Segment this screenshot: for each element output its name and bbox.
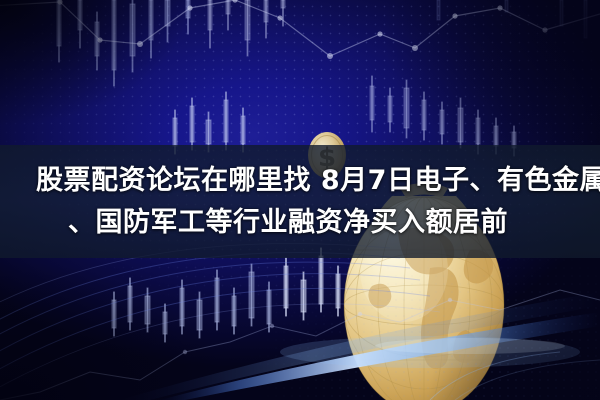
news-banner-image: $ $ xyxy=(0,0,600,400)
headline: 股票配资论坛在哪里找 8月7日电子、有色金属 、国防军工等行业融资净买入额居前 xyxy=(0,145,600,258)
headline-line-2: 、国防军工等行业融资净买入额居前 xyxy=(68,202,508,244)
headline-line-1: 股票配资论坛在哪里找 8月7日电子、有色金属 xyxy=(36,160,600,202)
